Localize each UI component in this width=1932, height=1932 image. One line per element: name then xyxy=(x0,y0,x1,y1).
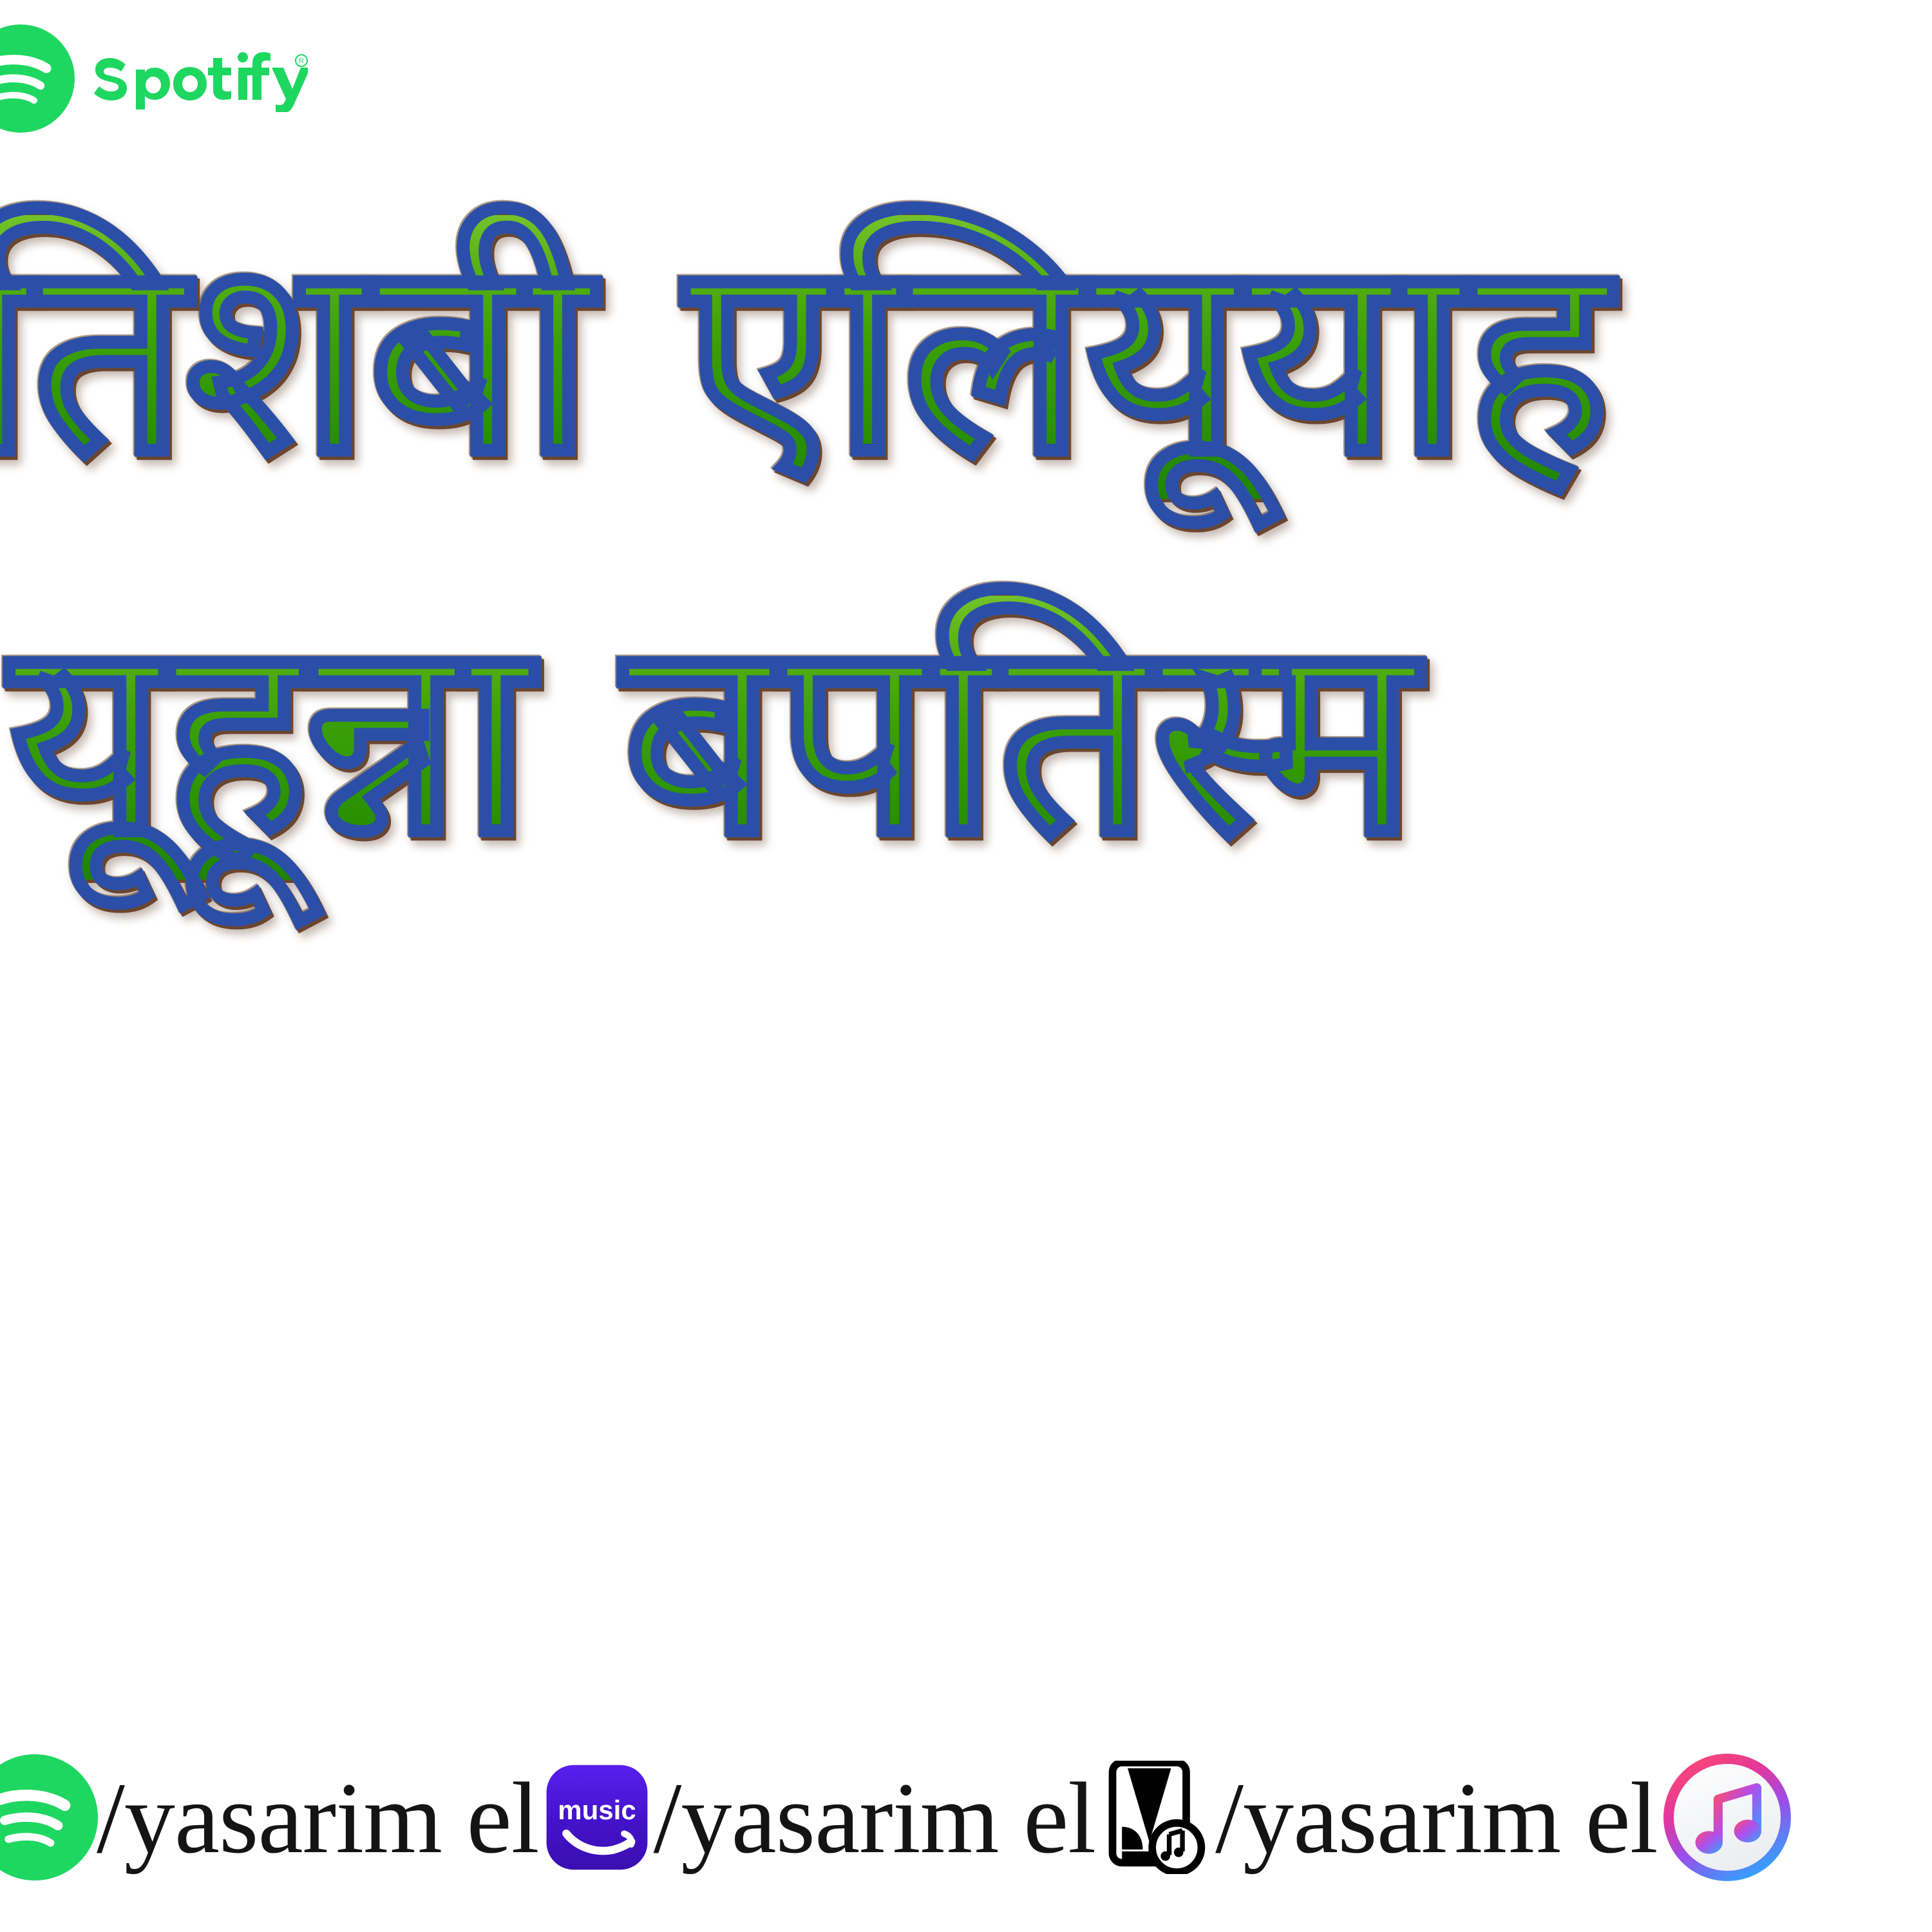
headline-line-2: यूहून्ना बपतिस्म xyxy=(9,596,1932,880)
headline-line-1: तिशबी एलियूयाह xyxy=(0,215,1932,499)
promo-canvas: R तिशबी एलियूयाह यूहून्ना बपतिस्म /yasa xyxy=(0,0,1932,1932)
handle-item-amazon-music[interactable]: music /yasarim el xyxy=(543,1780,1100,1891)
handle-text-jiosaavn[interactable]: /yasarim el xyxy=(1213,1768,1662,1870)
platform-handles-bar: /yasarim el music xyxy=(0,1739,1932,1932)
jiosaavn-music-icon[interactable] xyxy=(1099,1761,1213,1877)
spotify-logo-icon[interactable] xyxy=(0,1754,94,1884)
headline-block: तिशबी एलियूयाह यूहून्ना बपतिस्म xyxy=(0,193,1932,1716)
svg-text:music: music xyxy=(558,1794,636,1824)
itunes-logo-icon[interactable] xyxy=(1662,1749,1795,1889)
headline-line-2-text: यूहून्ना बपतिस्म xyxy=(9,596,1416,880)
handle-text-spotify[interactable]: /yasarim el xyxy=(94,1768,543,1870)
handle-item-jiosaavn[interactable]: /yasarim el xyxy=(1099,1777,1662,1894)
amazon-music-icon[interactable]: music xyxy=(543,1763,651,1875)
spotify-wordmark: R xyxy=(89,45,308,112)
spotify-logo-icon xyxy=(0,24,75,133)
spotify-brand-lockup: R xyxy=(0,24,308,133)
handle-text-amazon-music[interactable]: /yasarim el xyxy=(651,1768,1100,1870)
handle-item-itunes[interactable] xyxy=(1662,1766,1802,1906)
handle-item-spotify[interactable]: /yasarim el xyxy=(0,1771,543,1900)
headline-line-1-text: तिशबी एलियूयाह xyxy=(0,215,1608,499)
svg-text:R: R xyxy=(299,57,304,65)
